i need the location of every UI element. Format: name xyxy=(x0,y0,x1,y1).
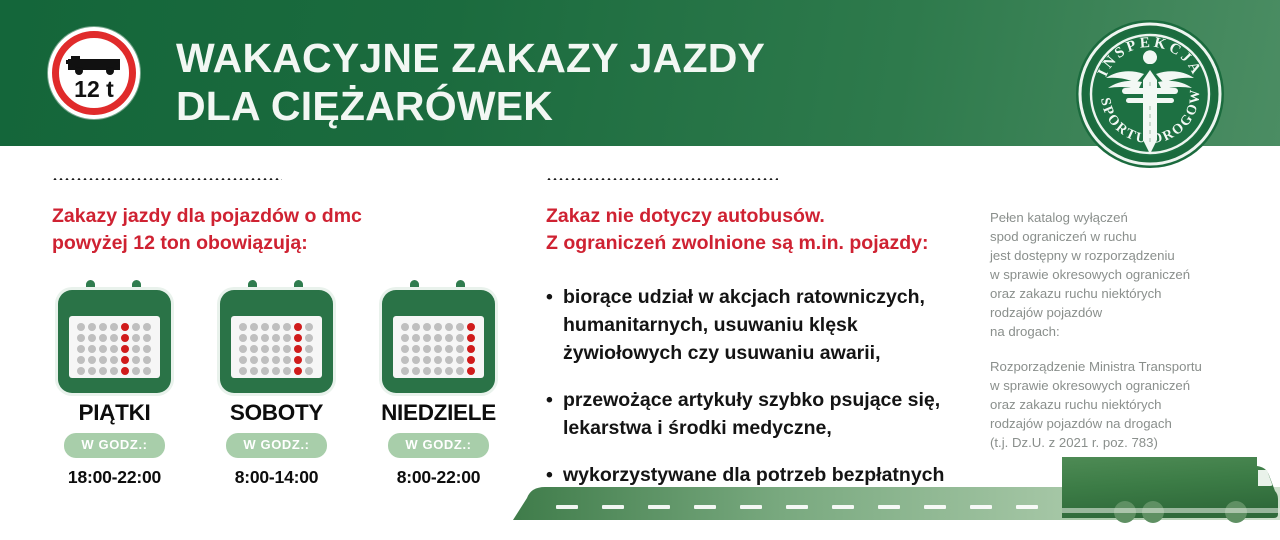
calendar-dot xyxy=(97,332,108,343)
calendar-dot xyxy=(432,321,443,332)
calendar-dot xyxy=(237,343,248,354)
calendar-dot xyxy=(454,343,465,354)
calendar-dot xyxy=(270,365,281,376)
legal-note-line: oraz zakazu ruchu niektórych xyxy=(990,395,1240,414)
calendar-day-label: PIĄTKI xyxy=(52,400,177,426)
calendar-dot xyxy=(399,332,410,343)
calendar-dot xyxy=(75,321,86,332)
left-lead-text: Zakazy jazdy dla pojazdów o dmc powyżej … xyxy=(52,203,502,257)
calendar-dot xyxy=(75,365,86,376)
calendar-dot xyxy=(303,332,314,343)
calendar-dot-highlighted xyxy=(119,354,130,365)
calendar-dot xyxy=(443,354,454,365)
legal-note-line: (t.j. Dz.U. z 2021 r. poz. 783) xyxy=(990,433,1240,452)
calendar-dot xyxy=(259,343,270,354)
calendar-dot xyxy=(248,354,259,365)
calendar-dot xyxy=(259,365,270,376)
calendar-dot xyxy=(410,321,421,332)
left-column: Zakazy jazdy dla pojazdów o dmc powyżej … xyxy=(52,146,502,257)
calendar-hours-badge: W GODZ.: xyxy=(388,433,488,458)
sign-weight-label: 12 t xyxy=(48,77,140,101)
truck-no-entry-sign-icon: 12 t xyxy=(48,27,140,119)
legal-note-line: w sprawie okresowych ograniczeń xyxy=(990,376,1240,395)
calendar-dot xyxy=(97,343,108,354)
calendar-dot xyxy=(421,332,432,343)
green-box-truck-icon xyxy=(1062,457,1280,523)
calendar-dot xyxy=(237,332,248,343)
calendar-body xyxy=(58,290,171,393)
calendar-dot xyxy=(421,343,432,354)
calendar-dot xyxy=(130,321,141,332)
calendar-dot xyxy=(432,332,443,343)
calendar-hours-badge: W GODZ.: xyxy=(226,433,326,458)
calendar-dot xyxy=(237,354,248,365)
calendar-dot-highlighted xyxy=(465,321,476,332)
legal-note-primary: Pełen katalog wyłączeń spod ograniczeń w… xyxy=(990,208,1240,341)
calendar-day-label: SOBOTY xyxy=(214,400,339,426)
calendar-dot xyxy=(86,343,97,354)
calendar-dot xyxy=(443,332,454,343)
calendar-dot xyxy=(410,332,421,343)
calendar-dot-highlighted xyxy=(292,332,303,343)
middle-lead-line2: Z ograniczeń zwolnione są m.in. pojazdy: xyxy=(546,230,966,257)
calendar-dot-highlighted xyxy=(119,343,130,354)
calendar-dot xyxy=(443,365,454,376)
calendar-dot xyxy=(75,343,86,354)
calendar-dot xyxy=(248,321,259,332)
calendar-dot xyxy=(454,354,465,365)
divider-dotted-middle xyxy=(546,177,778,180)
calendar-dot xyxy=(454,321,465,332)
calendar-dot xyxy=(108,365,119,376)
calendar-dot-grid xyxy=(237,321,314,376)
calendar-dot xyxy=(97,354,108,365)
calendar-dot xyxy=(108,321,119,332)
calendar-dot xyxy=(303,343,314,354)
calendar-dot xyxy=(248,365,259,376)
calendar-dot xyxy=(108,354,119,365)
calendar-dot xyxy=(75,332,86,343)
legal-note-line: Rozporządzenie Ministra Transportu xyxy=(990,357,1240,376)
calendar-dot xyxy=(454,365,465,376)
calendar-dot xyxy=(259,321,270,332)
calendar-dot xyxy=(421,365,432,376)
calendar-dot-highlighted xyxy=(119,332,130,343)
calendar-dot xyxy=(399,343,410,354)
calendar-hours-badge: W GODZ.: xyxy=(64,433,164,458)
calendar-dot xyxy=(432,365,443,376)
calendar-dot-highlighted xyxy=(119,365,130,376)
calendar-dot xyxy=(270,321,281,332)
calendar-dot xyxy=(86,321,97,332)
legal-note-line: oraz zakazu ruchu niektórych xyxy=(990,284,1240,303)
calendar-dot-highlighted xyxy=(292,321,303,332)
calendar-dot xyxy=(86,365,97,376)
calendar-dot xyxy=(443,343,454,354)
exemptions-list: biorące udział w akcjach ratowniczych, h… xyxy=(546,283,966,517)
calendar-dot xyxy=(421,354,432,365)
page-title-line2: DLA CIĘŻARÓWEK xyxy=(176,82,996,130)
calendar-card-niedziele: NIEDZIELE W GODZ.: 8:00-22:00 xyxy=(376,277,501,488)
calendar-icon xyxy=(52,277,177,395)
calendar-dot-highlighted xyxy=(465,354,476,365)
calendar-dot xyxy=(410,343,421,354)
calendar-dot-grid xyxy=(75,321,152,376)
calendar-dot xyxy=(97,365,108,376)
left-lead-line2: powyżej 12 ton obowiązują: xyxy=(52,230,502,257)
legal-note-line: na drogach: xyxy=(990,322,1240,341)
calendar-dot-highlighted xyxy=(292,354,303,365)
calendar-dot xyxy=(270,332,281,343)
calendar-dot xyxy=(432,354,443,365)
infographic-root: 12 t WAKACYJNE ZAKAZY JAZDY DLA CIĘŻARÓW… xyxy=(0,0,1280,540)
list-item: biorące udział w akcjach ratowniczych, h… xyxy=(546,283,966,367)
calendar-dot xyxy=(399,365,410,376)
legal-note-line: rodzajów pojazdów xyxy=(990,303,1240,322)
page-title: WAKACYJNE ZAKAZY JAZDY DLA CIĘŻARÓWEK xyxy=(176,34,996,130)
calendar-row: PIĄTKI W GODZ.: 18:00-22:00 SOBOTY W GOD… xyxy=(52,277,501,488)
calendar-hours-value: 18:00-22:00 xyxy=(52,467,177,488)
legal-note-line: w sprawie okresowych ograniczeń xyxy=(990,265,1240,284)
calendar-dot xyxy=(130,354,141,365)
legal-note-line: spod ograniczeń w ruchu xyxy=(990,227,1240,246)
calendar-dot xyxy=(141,343,152,354)
calendar-dot xyxy=(281,365,292,376)
right-column: Pełen katalog wyłączeń spod ograniczeń w… xyxy=(990,146,1240,452)
calendar-day-label: NIEDZIELE xyxy=(376,400,501,426)
middle-lead-line1: Zakaz nie dotyczy autobusów. xyxy=(546,203,966,230)
calendar-dot xyxy=(281,343,292,354)
calendar-dot xyxy=(130,365,141,376)
calendar-dot-highlighted xyxy=(465,365,476,376)
legal-note-line: rodzajów pojazdów na drogach xyxy=(990,414,1240,433)
calendar-dot xyxy=(141,332,152,343)
calendar-dot xyxy=(270,354,281,365)
calendar-dot xyxy=(86,332,97,343)
calendar-page xyxy=(231,316,322,378)
calendar-dot xyxy=(248,343,259,354)
calendar-icon xyxy=(376,277,501,395)
calendar-dot xyxy=(130,343,141,354)
calendar-dot xyxy=(432,343,443,354)
legal-note-line: jest dostępny w rozporządzeniu xyxy=(990,246,1240,265)
legal-note-citation: Rozporządzenie Ministra Transportu w spr… xyxy=(990,357,1240,452)
calendar-dot xyxy=(237,321,248,332)
divider-dotted-left xyxy=(52,177,282,180)
calendar-dot xyxy=(248,332,259,343)
calendar-dot-grid xyxy=(399,321,476,376)
calendar-dot xyxy=(410,354,421,365)
list-item: przewożące artykuły szybko psujące się, … xyxy=(546,386,966,442)
calendar-dot-highlighted xyxy=(292,343,303,354)
calendar-dot-highlighted xyxy=(465,332,476,343)
calendar-dot xyxy=(237,365,248,376)
calendar-icon xyxy=(214,277,339,395)
calendar-dot xyxy=(130,332,141,343)
calendar-dot xyxy=(421,321,432,332)
calendar-dot xyxy=(281,354,292,365)
header-banner: 12 t WAKACYJNE ZAKAZY JAZDY DLA CIĘŻARÓW… xyxy=(0,0,1280,146)
truck-silhouette-icon xyxy=(66,51,122,75)
calendar-page xyxy=(69,316,160,378)
calendar-card-piatki: PIĄTKI W GODZ.: 18:00-22:00 xyxy=(52,277,177,488)
calendar-body xyxy=(382,290,495,393)
calendar-dot xyxy=(270,343,281,354)
calendar-dot xyxy=(259,332,270,343)
middle-column: Zakaz nie dotyczy autobusów. Z ogranicze… xyxy=(546,146,966,536)
calendar-dot xyxy=(75,354,86,365)
legal-note-line: Pełen katalog wyłączeń xyxy=(990,208,1240,227)
calendar-dot xyxy=(141,321,152,332)
calendar-dot xyxy=(303,354,314,365)
calendar-body xyxy=(220,290,333,393)
calendar-hours-value: 8:00-22:00 xyxy=(376,467,501,488)
calendar-dot xyxy=(281,321,292,332)
middle-lead-text: Zakaz nie dotyczy autobusów. Z ogranicze… xyxy=(546,203,966,257)
calendar-dot xyxy=(443,321,454,332)
calendar-dot xyxy=(281,332,292,343)
calendar-dot xyxy=(399,321,410,332)
page-title-line1: WAKACYJNE ZAKAZY JAZDY xyxy=(176,35,765,81)
calendar-dot xyxy=(259,354,270,365)
calendar-dot xyxy=(86,354,97,365)
calendar-dot xyxy=(454,332,465,343)
calendar-dot xyxy=(141,365,152,376)
left-lead-line1: Zakazy jazdy dla pojazdów o dmc xyxy=(52,203,502,230)
calendar-dot-highlighted xyxy=(465,343,476,354)
calendar-dot xyxy=(410,365,421,376)
calendar-page xyxy=(393,316,484,378)
calendar-dot xyxy=(141,354,152,365)
calendar-dot xyxy=(108,332,119,343)
calendar-dot xyxy=(97,321,108,332)
list-item: wykorzystywane dla potrzeb bezpłatnych b… xyxy=(546,461,966,517)
calendar-card-soboty: SOBOTY W GODZ.: 8:00-14:00 xyxy=(214,277,339,488)
calendar-dot xyxy=(108,343,119,354)
calendar-dot xyxy=(303,321,314,332)
calendar-dot xyxy=(303,365,314,376)
calendar-dot-highlighted xyxy=(119,321,130,332)
calendar-hours-value: 8:00-14:00 xyxy=(214,467,339,488)
calendar-dot-highlighted xyxy=(292,365,303,376)
calendar-dot xyxy=(399,354,410,365)
